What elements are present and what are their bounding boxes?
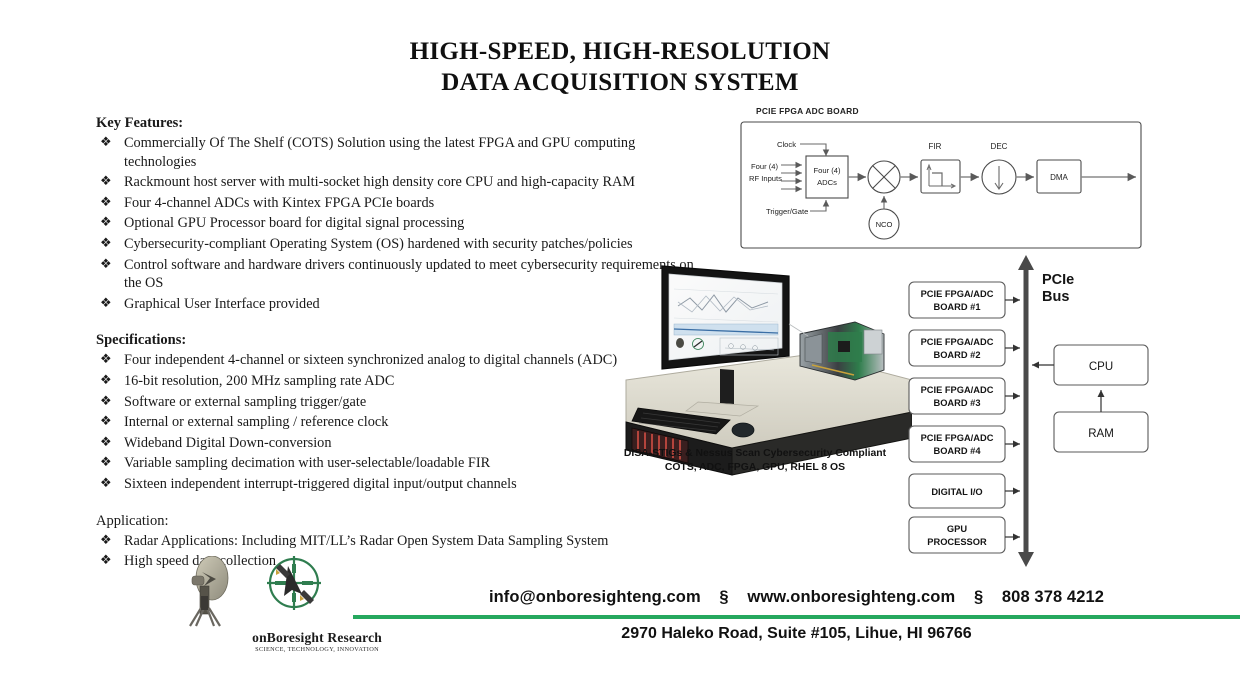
adc-label-line2: ADCs — [817, 178, 837, 187]
company-logo: onBoresight Research SCIENCE, TECHNOLOGY… — [176, 556, 381, 668]
block-diagram-caption: PCIE FPGA ADC BOARD — [756, 106, 859, 116]
list-item-text: Internal or external sampling / referenc… — [124, 414, 388, 430]
pcie-fpga-adc-block-diagram: PCIE FPGA ADC BOARD Clock Four (4) RF In… — [738, 106, 1146, 254]
bullet-icon: ❖ — [100, 453, 112, 472]
bullet-icon: ❖ — [100, 433, 112, 452]
nco-label: NCO — [876, 220, 893, 229]
server-workstation-svg — [612, 262, 912, 477]
cpu-block: CPU — [1032, 345, 1148, 385]
system-architecture-diagram: PCIe Bus PCIE FPGA/ADC BOARD #1 PCIE FPG… — [900, 252, 1240, 570]
pcie-bus-label-line2: Bus — [1042, 289, 1069, 305]
list-item-text: Radar Applications: Including MIT/LL’s R… — [124, 533, 608, 549]
block-diagram-svg: Clock Four (4) RF Inputs Four (4) ADCs T… — [738, 118, 1146, 254]
board-label-line1: PCIE FPGA/ADC — [921, 337, 994, 347]
list-item-text: Wideband Digital Down-conversion — [124, 435, 331, 451]
footer-website[interactable]: www.onboresighteng.com — [747, 588, 955, 606]
board-label-line2: BOARD #2 — [933, 350, 980, 360]
gpu-label-line1: GPU — [947, 524, 967, 534]
board-label-line2: BOARD #4 — [933, 446, 981, 456]
hardware-caption: DISA-STIGs & Nessus Scan Cybersecurity C… — [600, 447, 910, 475]
monitor-stand-neck — [720, 369, 734, 404]
bullet-icon: ❖ — [100, 350, 112, 369]
list-item-text: Commercially Of The Shelf (COTS) Solutio… — [124, 135, 635, 170]
list-item-text: Rackmount host server with multi-socket … — [124, 174, 635, 190]
board-label-line2: BOARD #1 — [933, 302, 980, 312]
list-item-text: 16-bit resolution, 200 MHz sampling rate… — [124, 373, 394, 389]
clock-connector — [800, 144, 826, 156]
radar-antenna-icon — [190, 556, 228, 626]
fir-block — [921, 160, 960, 193]
trigger-connector — [810, 200, 826, 211]
footer-separator-2: § — [960, 588, 997, 607]
board-block-3: PCIE FPGA/ADC BOARD #3 — [909, 378, 1020, 414]
footer-contact-line: info@onboresighteng.com § www.onboresigh… — [353, 588, 1240, 607]
system-architecture-svg: PCIe Bus PCIE FPGA/ADC BOARD #1 PCIE FPG… — [900, 252, 1240, 570]
bullet-icon: ❖ — [100, 294, 112, 313]
list-item: ❖Rackmount host server with multi-socket… — [96, 173, 708, 192]
card-fpga-chip — [838, 341, 850, 352]
gpu-processor-block: GPU PROCESSOR — [909, 517, 1020, 553]
footer-email[interactable]: info@onboresighteng.com — [489, 588, 701, 606]
bullet-icon: ❖ — [100, 193, 112, 212]
dma-label: DMA — [1050, 173, 1068, 182]
list-item: ❖Radar Applications: Including MIT/LL’s … — [96, 532, 708, 551]
rf-inputs-label-line1: Four (4) — [751, 162, 778, 171]
list-item: ❖Commercially Of The Shelf (COTS) Soluti… — [96, 134, 708, 171]
gpu-label-line2: PROCESSOR — [927, 537, 987, 547]
list-item-text: Optional GPU Processor board for digital… — [124, 215, 464, 231]
bullet-icon: ❖ — [100, 234, 112, 253]
card-bracket — [805, 334, 822, 364]
bullet-icon: ❖ — [100, 551, 112, 570]
card-io-panel — [864, 330, 882, 354]
hardware-caption-line1: DISA-STIGs & Nessus Scan Cybersecurity C… — [600, 447, 910, 461]
bullet-icon: ❖ — [100, 213, 112, 232]
list-item-text: Sixteen independent interrupt-triggered … — [124, 476, 517, 492]
footer-phone: 808 378 4212 — [1002, 588, 1104, 606]
bullet-icon: ❖ — [100, 255, 112, 274]
mouse — [732, 423, 754, 437]
page-title: HIGH-SPEED, HIGH-RESOLUTION DATA ACQUISI… — [0, 36, 1240, 98]
bullet-icon: ❖ — [100, 392, 112, 411]
dec-label: DEC — [991, 142, 1008, 151]
ram-block: RAM — [1054, 390, 1148, 452]
list-item-text: Cybersecurity-compliant Operating System… — [124, 236, 633, 252]
digital-io-block: DIGITAL I/O — [909, 474, 1020, 508]
footer-divider — [353, 615, 1240, 619]
bullet-icon: ❖ — [100, 371, 112, 390]
pcie-bus-arrow-top — [1018, 255, 1034, 270]
list-item-text: Four independent 4-channel or sixteen sy… — [124, 352, 617, 368]
bullet-icon: ❖ — [100, 474, 112, 493]
bullet-icon: ❖ — [100, 531, 112, 550]
list-item: ❖Sixteen independent interrupt-triggered… — [96, 475, 708, 494]
application-heading: Application: — [96, 512, 708, 531]
adc-label-line1: Four (4) — [813, 166, 840, 175]
logo-graphic — [176, 556, 381, 628]
pcie-bus-label-line1: PCIe — [1042, 272, 1074, 288]
list-item: ❖Four 4-channel ADCs with Kintex FPGA PC… — [96, 194, 708, 213]
list-item-text: Control software and hardware drivers co… — [124, 257, 694, 292]
bullet-icon: ❖ — [100, 133, 112, 152]
key-features-heading: Key Features: — [96, 114, 708, 133]
digital-io-label: DIGITAL I/O — [931, 487, 982, 497]
page-title-line1: HIGH-SPEED, HIGH-RESOLUTION — [0, 36, 1240, 67]
board-label-line1: PCIE FPGA/ADC — [921, 385, 994, 395]
hardware-illustration — [612, 262, 912, 477]
list-item-text: Graphical User Interface provided — [124, 296, 320, 312]
four-adcs-block — [806, 156, 848, 198]
list-item-text: Software or external sampling trigger/ga… — [124, 394, 366, 410]
list-item: ❖Optional GPU Processor board for digita… — [96, 214, 708, 233]
boresight-reticle-icon — [267, 556, 321, 610]
fir-label: FIR — [929, 142, 942, 151]
bullet-icon: ❖ — [100, 412, 112, 431]
footer-address: 2970 Haleko Road, Suite #105, Lihue, HI … — [353, 625, 1240, 643]
board-block-1: PCIE FPGA/ADC BOARD #1 — [909, 282, 1020, 318]
list-item: ❖Cybersecurity-compliant Operating Syste… — [96, 235, 708, 254]
hardware-caption-line2: COTS, ADC, FPGA, GPU, RHEL 8 OS — [600, 461, 910, 475]
rf-inputs-label-line2: RF Inputs — [749, 174, 782, 183]
spacer — [96, 496, 708, 512]
list-item-text: Four 4-channel ADCs with Kintex FPGA PCI… — [124, 195, 434, 211]
trigger-gate-label: Trigger/Gate — [766, 207, 808, 216]
board-label-line1: PCIE FPGA/ADC — [921, 433, 994, 443]
footer-separator-1: § — [705, 588, 742, 607]
ram-label: RAM — [1088, 428, 1114, 440]
cpu-label: CPU — [1089, 361, 1113, 373]
logo-tagline: SCIENCE, TECHNOLOGY, INNOVATION — [186, 646, 379, 653]
slide-canvas: HIGH-SPEED, HIGH-RESOLUTION DATA ACQUISI… — [0, 0, 1240, 698]
clock-label: Clock — [777, 140, 796, 149]
bullet-icon: ❖ — [100, 172, 112, 191]
list-item-text: Variable sampling decimation with user-s… — [124, 455, 490, 471]
board-label-line2: BOARD #3 — [933, 398, 980, 408]
page-title-line2: DATA ACQUISITION SYSTEM — [0, 67, 1240, 98]
pcie-bus-arrow-bottom — [1018, 552, 1034, 567]
monitor-screen — [669, 274, 782, 360]
board-block-4: PCIE FPGA/ADC BOARD #4 — [909, 426, 1020, 462]
board-block-2: PCIE FPGA/ADC BOARD #2 — [909, 330, 1020, 366]
leader-line — [789, 324, 808, 336]
board-label-line1: PCIE FPGA/ADC — [921, 289, 994, 299]
